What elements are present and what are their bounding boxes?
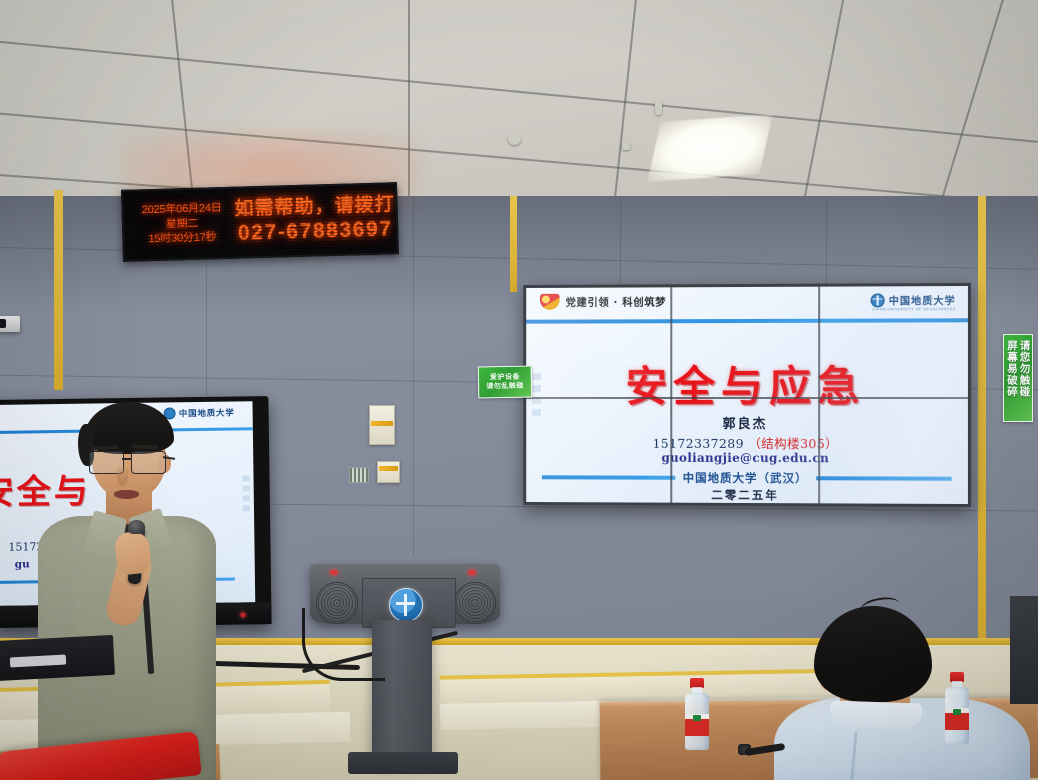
slide-accent-rule-right (816, 476, 952, 481)
led-date: 2025年06月24日 (129, 201, 233, 218)
podium-indicator-led-right (468, 570, 476, 575)
seated-attendee (786, 606, 1026, 780)
slide-accent-rule-top (526, 318, 968, 323)
wall-vent-grille (349, 467, 369, 483)
slide-organization-row: 中国地质大学（武汉） (542, 469, 952, 486)
presenter-nose (117, 468, 128, 486)
water-bottle (945, 672, 969, 744)
presenter-eyebrow-right (132, 445, 158, 450)
podium-indicator-led-left (330, 570, 338, 575)
podium-cable (302, 608, 385, 681)
podium-base (348, 752, 458, 774)
conference-room-scene: 2025年06月24日 星期二 15时30分17秒 如需帮助，请拨打 027-6… (0, 0, 1038, 780)
bottle-label (945, 708, 969, 730)
led-message-block: 如需帮助，请拨打 027-67883697 (233, 195, 396, 247)
institution-crest-icon (389, 588, 423, 622)
party-emblem-icon (540, 294, 560, 310)
water-bottle (685, 678, 709, 750)
video-wall-seam (526, 397, 968, 399)
ceiling-light-panel (648, 114, 773, 182)
smoke-detector-icon (508, 134, 521, 145)
presentation-slide: 党建引领 · 科创筑梦 中国地质大学 CHINA UNIVERSITY OF G… (526, 286, 968, 504)
slide-university-subtext: CHINA UNIVERSITY OF GEOSCIENCES (872, 307, 955, 311)
slide-brand-banner: 党建引领 · 科创筑梦 (540, 293, 666, 309)
wall-mounted-camera (0, 316, 20, 332)
led-marquee-sign: 2025年06月24日 星期二 15时30分17秒 如需帮助，请拨打 027-6… (121, 182, 399, 262)
slide-brand-text: 党建引领 · 科创筑梦 (566, 294, 667, 309)
led-help-phone: 027-67883697 (234, 217, 397, 246)
slide-university-logo: 中国地质大学 (871, 292, 956, 307)
speaker-grille-right-icon (454, 582, 496, 624)
eyeglasses-icon (89, 451, 171, 473)
slide-contact-email: guoliangjie@cug.edu.cn (526, 450, 968, 465)
presenter-mouth (114, 490, 139, 499)
sprinkler-head-icon (622, 142, 630, 150)
slide-presenter-name: 郭良杰 (526, 413, 968, 433)
university-mark-icon (871, 293, 885, 307)
wall-control-box-lower[interactable] (377, 461, 400, 483)
led-datetime-block: 2025年06月24日 星期二 15时30分17秒 (123, 201, 234, 248)
equipment-care-sign-left: 爱护设备 请勿乱触碰 (478, 366, 533, 399)
warning-sign-column-1: 请您勿触碰 (1019, 340, 1030, 416)
warning-sign-column-2: 屏幕易破碎 (1007, 340, 1018, 416)
podium-lectern (310, 556, 500, 780)
wall-trim-strip (510, 196, 517, 292)
power-led-icon (240, 612, 245, 617)
standing-presenter (20, 404, 230, 780)
microphone-capsule-icon (128, 520, 145, 534)
video-wall-canvas: 党建引领 · 科创筑梦 中国地质大学 CHINA UNIVERSITY OF G… (526, 286, 968, 504)
wall-control-box-upper[interactable] (369, 405, 395, 445)
right-equipment-panel (1010, 596, 1038, 704)
equipment-care-line-2: 请勿乱触碰 (486, 382, 524, 392)
video-wall-osd-icons (532, 373, 541, 416)
bottle-label (685, 714, 709, 736)
equipment-care-line-1: 爱护设备 (490, 372, 520, 382)
wall-trim-strip (978, 196, 986, 666)
attendee-collar (830, 700, 923, 729)
video-wall-seam (818, 287, 820, 504)
slide-organization: 中国地质大学（武汉） (683, 470, 808, 486)
led-time: 15时30分17秒 (130, 230, 234, 247)
left-display-osd-icons (243, 475, 251, 511)
slide-room-note: （结构楼305） (748, 436, 838, 451)
video-wall: 党建引领 · 科创筑梦 中国地质大学 CHINA UNIVERSITY OF G… (523, 283, 971, 507)
slide-accent-rule-left (542, 475, 675, 479)
slide-year: 二零二五年 (526, 486, 968, 504)
attendee-hair (814, 606, 932, 702)
slide-university-text: 中国地质大学 (889, 292, 956, 307)
slide-contact-phone: 15172337289 （结构楼305） (526, 433, 968, 453)
slide-phone-number: 15172337289 (653, 436, 744, 451)
slide-title: 安全与应急 (526, 353, 968, 415)
sprinkler-pendant-icon (655, 100, 662, 115)
wall-trim-strip (54, 190, 63, 390)
screen-warning-sign-right: 请您勿触碰 屏幕易破碎 (1003, 334, 1033, 422)
video-wall-seam (670, 287, 672, 502)
